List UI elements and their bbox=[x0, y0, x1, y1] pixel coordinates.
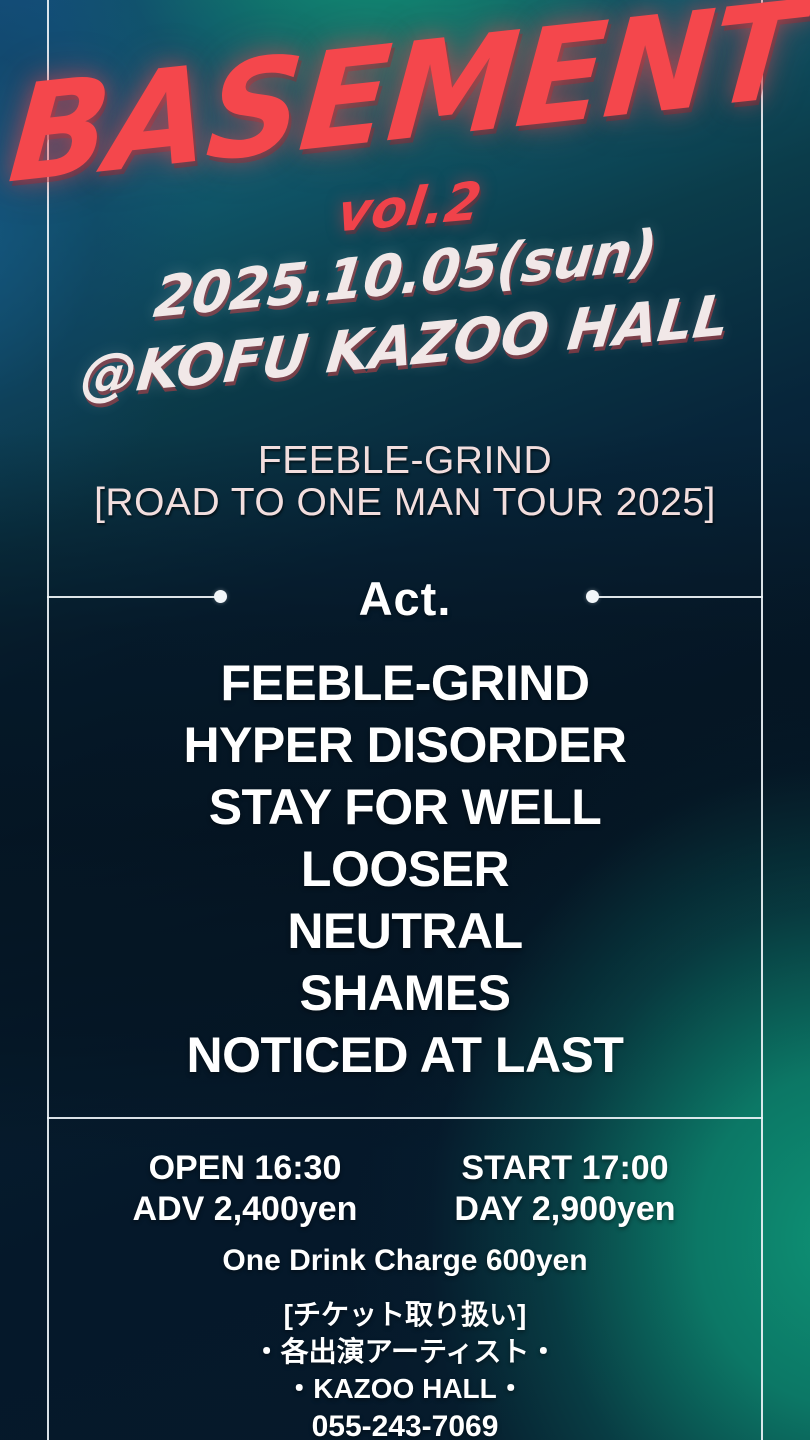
advance-price: ADV 2,400yen bbox=[85, 1189, 405, 1230]
list-item: LOOSER bbox=[47, 838, 763, 900]
open-time: OPEN 16:30 bbox=[85, 1148, 405, 1189]
title-block: BASEMENT vol.2 2025.10.05(sun) @KOFU KAZ… bbox=[0, 0, 810, 420]
list-item: STAY FOR WELL bbox=[47, 776, 763, 838]
list-item: HYPER DISORDER bbox=[47, 714, 763, 776]
door-price: DAY 2,900yen bbox=[405, 1189, 725, 1230]
concert-flyer: BASEMENT vol.2 2025.10.05(sun) @KOFU KAZ… bbox=[0, 0, 810, 1440]
start-time: START 17:00 bbox=[405, 1148, 725, 1189]
list-item: NEUTRAL bbox=[47, 900, 763, 962]
tour-subtitle: FEEBLE-GRIND [ROAD TO ONE MAN TOUR 2025] bbox=[47, 440, 763, 523]
list-item: FEEBLE-GRIND bbox=[47, 652, 763, 714]
info-row-times: OPEN 16:30 START 17:00 bbox=[47, 1148, 763, 1189]
list-item: SHAMES bbox=[47, 962, 763, 1024]
list-item: NOTICED AT LAST bbox=[47, 1024, 763, 1086]
drink-charge: One Drink Charge 600yen bbox=[47, 1242, 763, 1280]
tour-subtitle-tour: [ROAD TO ONE MAN TOUR 2025] bbox=[47, 482, 763, 524]
ticket-outlets: [チケット取り扱い] ・各出演アーティスト・ ・KAZOO HALL・ 055-… bbox=[47, 1296, 763, 1440]
divider-info-rule bbox=[47, 1117, 763, 1119]
venue-phone-number: 055-243-7069 bbox=[47, 1407, 763, 1440]
ticket-outlets-heading: [チケット取り扱い] bbox=[47, 1296, 763, 1333]
event-info-block: OPEN 16:30 START 17:00 ADV 2,400yen DAY … bbox=[47, 1148, 763, 1440]
tour-subtitle-band: FEEBLE-GRIND bbox=[47, 440, 763, 482]
ticket-outlet-artists: ・各出演アーティスト・ bbox=[47, 1333, 763, 1370]
info-row-prices: ADV 2,400yen DAY 2,900yen bbox=[47, 1189, 763, 1230]
act-heading: Act. bbox=[0, 571, 810, 626]
poster-volume: vol.2 bbox=[334, 171, 485, 244]
ticket-outlet-venue: ・KAZOO HALL・ bbox=[47, 1370, 763, 1407]
act-lineup-list: FEEBLE-GRIND HYPER DISORDER STAY FOR WEL… bbox=[47, 652, 763, 1086]
